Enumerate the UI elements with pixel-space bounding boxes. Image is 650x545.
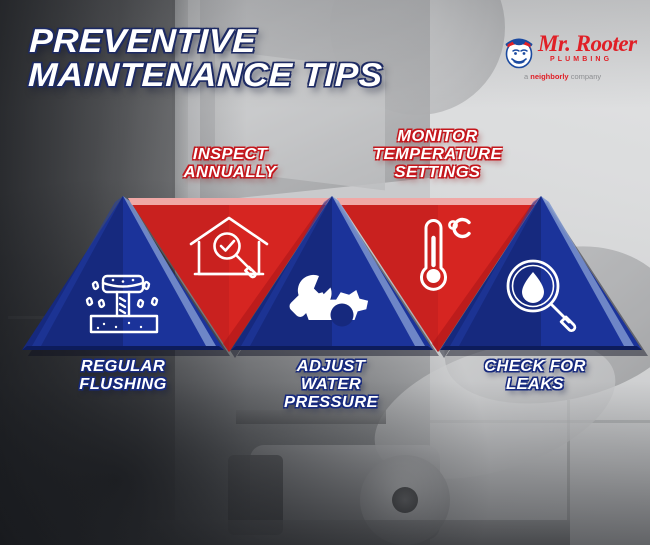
plumber-mascot-icon	[502, 30, 536, 70]
logo-tagline-post: company	[569, 72, 602, 81]
tip-label-check-for-leaks: CHECK FOR LEAKS	[458, 358, 613, 394]
tip-label-regular-flushing: REGULAR FLUSHING	[46, 358, 201, 394]
infographic-canvas: PREVENTIVE MAINTENANCE TIPS Mr. Rooter P…	[0, 0, 650, 545]
brand-logo: Mr. Rooter PLUMBING a neighborly company	[502, 26, 622, 92]
logo-subtitle: PLUMBING	[550, 56, 612, 63]
page-title: PREVENTIVE MAINTENANCE TIPS	[28, 24, 433, 93]
tip-label-adjust-water-pressure: ADJUST WATER PRESSURE	[254, 358, 409, 412]
logo-tagline-brand: neighborly	[530, 72, 568, 81]
tip-label-inspect-annually: INSPECT ANNUALLY	[153, 146, 308, 182]
logo-tagline: a neighborly company	[524, 72, 601, 81]
triangle-shape-blue-up-3	[438, 194, 644, 354]
logo-wordmark: Mr. Rooter	[538, 32, 637, 55]
tip-label-monitor-temperature-settings: MONITOR TEMPERATURE SETTINGS	[353, 128, 523, 182]
tip-triangle-check-for-leaks[interactable]	[438, 194, 644, 354]
